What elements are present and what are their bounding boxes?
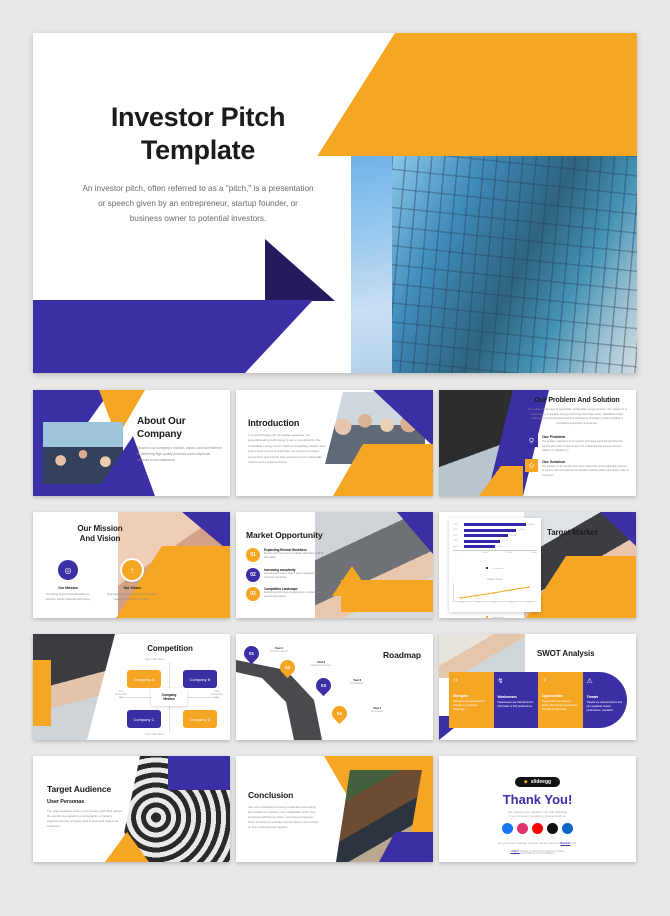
item-number: 02 <box>246 568 260 582</box>
item-text: Existing tools often lack comprehensive,… <box>264 591 324 599</box>
item-label: Our Mission <box>41 586 95 590</box>
slide-competition[interactable]: Competition High traffic share Low traff… <box>33 634 230 740</box>
hero-building-photo <box>392 156 637 373</box>
column-label: Threats <box>587 695 624 699</box>
credit-text-2: Let this slide be kept for attribution. <box>439 853 636 855</box>
matrix-box-company-b[interactable]: Company B <box>183 670 217 688</box>
hero-subtitle-line2: or speech given by an entrepreneur, star… <box>61 196 335 211</box>
hero-title: Investor Pitch Template <box>33 101 363 167</box>
milestone-number: 01 <box>249 651 254 656</box>
item-number: 01 <box>246 548 260 562</box>
youtube-icon[interactable] <box>532 823 543 834</box>
hero-navy-triangle <box>265 239 335 301</box>
threat-icon: ⚠ <box>587 677 624 685</box>
opportunity-item[interactable]: 01 Expanding Remote Workforce Remote wor… <box>246 548 324 562</box>
hero-title-line2: Template <box>33 134 363 167</box>
social-icons <box>439 823 636 834</box>
slide-conclusion[interactable]: Conclusion Join us in reshaping the ener… <box>236 756 433 862</box>
column-text: Threats are external factors that can ne… <box>587 701 624 712</box>
slide-our-problem-and-solution[interactable]: Our Problem And Solution Our problem is … <box>439 390 636 496</box>
thank-you-title: Thank You! <box>439 792 636 807</box>
solution-card[interactable]: Our Solution The solution on an investor… <box>525 459 629 479</box>
presentation-preview-page: Investor Pitch Template An investor pitc… <box>0 0 670 916</box>
slide-title: SWOT Analysis <box>537 649 595 658</box>
item-text: Providing expert financial advice to opt… <box>41 592 95 602</box>
slide-our-mission-and-vision[interactable]: Our Mission And Vision ◎ Our Mission Pro… <box>33 512 230 618</box>
swot-column-opportunities[interactable]: ♀ Opportunities Opportunities are extern… <box>538 672 583 728</box>
logo-text: slideegg <box>531 779 551 785</box>
thank-you-line2: If you have any questions, please reach … <box>439 814 636 818</box>
hero-text-block: Investor Pitch Template An investor pitc… <box>33 101 363 226</box>
slide-target-market[interactable]: 2024260,000 2023215,000 2022180,000 2021… <box>439 512 636 618</box>
slide-roadmap[interactable]: Roadmap 01 Year 1 Product Launch 02 Year… <box>236 634 433 740</box>
milestone-number: 03 <box>321 683 326 688</box>
competition-matrix: High traffic share Low traffic share Low… <box>111 658 227 736</box>
website-link[interactable]: www.slideegg.com <box>439 861 636 862</box>
milestone-label: Product Launch <box>262 650 296 653</box>
x-twitter-icon[interactable] <box>547 823 558 834</box>
slide-title: Target Audience <box>47 784 123 794</box>
slide-body: Our problem is the lack of accessible, s… <box>525 408 629 427</box>
slide-title-line1: About Our <box>137 416 223 429</box>
matrix-box-company-d[interactable]: Company D <box>183 710 217 728</box>
line-chart-legend: Market Share <box>492 617 504 618</box>
swot-column-strengths[interactable]: ‹› Strengths Strengths are internal fact… <box>449 672 494 728</box>
axis-top-label: High traffic share <box>145 658 165 661</box>
gear-idea-icon <box>525 459 538 472</box>
item-text: Empowering clients with sound financial … <box>105 592 159 602</box>
slide-target-audience[interactable]: Target Audience User Personas The target… <box>33 756 230 862</box>
slide-subtitle: User Personas <box>47 799 123 805</box>
linkedin-icon[interactable] <box>562 823 573 834</box>
lightbulb-icon <box>525 434 538 447</box>
vision-item[interactable]: ↑ Our Vision Empowering clients with sou… <box>105 560 159 602</box>
column-label: Opportunities <box>542 694 579 698</box>
column-text: Strengths are internal factors that give… <box>453 700 490 711</box>
hero-title-line1: Investor Pitch <box>33 101 363 134</box>
column-text: Opportunities are external factors that … <box>542 700 579 711</box>
hero-slide[interactable]: Investor Pitch Template An investor pitc… <box>33 33 637 373</box>
line-chart-title: Market Share <box>453 578 537 581</box>
milestone-label: Profitability <box>340 682 374 685</box>
slide-title-line2: And Vision <box>55 534 145 544</box>
weakness-icon: ↯ <box>498 677 535 685</box>
hero-subtitle-line3: business owner to potential investors. <box>61 211 335 226</box>
opportunity-icon: ♀ <box>542 677 579 684</box>
column-label: Weaknesses <box>498 695 535 699</box>
slide-title: Market Opportunity <box>246 530 323 540</box>
bar-chart: 2024260,000 2023215,000 2022180,000 2021… <box>453 523 537 574</box>
item-text: Remote work has become the digital colla… <box>264 552 324 560</box>
slideegg-logo: ◆ slideegg <box>515 777 560 787</box>
axis-left-label: Low Conversion rate <box>111 690 131 699</box>
slide-introduction[interactable]: Introduction In a world hungry for innov… <box>236 390 433 496</box>
mission-item[interactable]: ◎ Our Mission Providing expert financial… <box>41 560 95 602</box>
matrix-box-company-a[interactable]: Company A <box>127 670 161 688</box>
slide-title: Roadmap <box>383 650 421 660</box>
slide-title: Target Market <box>547 528 598 537</box>
card-label: Our Problem <box>542 434 629 439</box>
slide-market-opportunity[interactable]: Market Opportunity 01 Expanding Remote W… <box>236 512 433 618</box>
deckzz-link[interactable]: Deckzz <box>560 841 570 845</box>
card-label: Our Solution <box>542 459 629 464</box>
item-label: Our Vision <box>105 586 159 590</box>
slide-body: In a world hungry for innovative solutio… <box>248 433 326 465</box>
matrix-box-company-c[interactable]: Company C <box>127 710 161 728</box>
opportunity-item[interactable]: 03 Competitive Landscape Existing tools … <box>246 587 324 601</box>
line-chart: Market Share 20202021202220232024 Market… <box>453 578 537 618</box>
opportunity-item[interactable]: 02 Increasing complexity As businesses e… <box>246 568 324 582</box>
slide-title: Our Problem And Solution <box>525 397 629 404</box>
slide-title: About Our Company <box>137 416 223 441</box>
card-text: The problem statement on an investor pit… <box>542 440 629 453</box>
column-text: Weaknesses are internal factors that hin… <box>498 701 535 709</box>
milestone-number: 02 <box>285 665 290 670</box>
slide-swot-analysis[interactable]: SWOT Analysis ‹› Strengths Strengths are… <box>439 634 636 740</box>
slide-title: Conclusion <box>248 790 320 800</box>
bar-chart-legend: Customers <box>493 568 504 570</box>
purple-shape <box>168 756 230 790</box>
hero-subtitle-line1: An investor pitch, often referred to as … <box>61 181 335 196</box>
item-number: 03 <box>246 587 260 601</box>
column-label: Strengths <box>453 694 490 698</box>
slide-title-line2: Company <box>137 429 223 442</box>
swot-column-weaknesses[interactable]: ↯ Weaknesses Weaknesses are internal fac… <box>494 672 539 728</box>
facebook-icon[interactable] <box>502 823 513 834</box>
slide-body: Join us in reshaping the energy landscap… <box>248 805 320 829</box>
milestone-number: 04 <box>337 711 342 716</box>
axis-right-label: High Conversion rate <box>207 690 227 699</box>
card-text: The solution on an investor pitch deck o… <box>542 465 629 478</box>
design-request-text: Do you have a design request, please vis… <box>439 841 636 845</box>
slide-body: The target audience section in an invest… <box>47 809 123 829</box>
problem-card[interactable]: Our Problem The problem statement on an … <box>525 434 629 454</box>
target-icon: ◎ <box>58 560 78 580</box>
slide-title: Introduction <box>248 418 326 428</box>
matrix-center-label: Company Metrics <box>151 688 187 706</box>
rocket-icon: ↑ <box>122 560 142 580</box>
charts-card: 2024260,000 2023215,000 2022180,000 2021… <box>449 518 541 612</box>
hero-purple-shape <box>33 300 383 373</box>
milestone-label: Market Expansion <box>302 664 340 667</box>
orange-bar <box>33 660 51 726</box>
item-text: As businesses evolve, efficient project … <box>264 572 324 580</box>
slide-thank-you[interactable]: ◆ slideegg Thank You! We respect your va… <box>439 756 636 862</box>
swot-column-threats[interactable]: ⚠ Threats Threats are external factors t… <box>583 672 628 728</box>
orange-bar <box>341 580 433 612</box>
hero-subtitle: An investor pitch, often referred to as … <box>33 181 363 227</box>
instagram-icon[interactable] <box>517 823 528 834</box>
swot-columns: ‹› Strengths Strengths are internal fact… <box>449 672 627 728</box>
slide-title: Competition <box>117 644 223 653</box>
slide-title-line1: Our Mission <box>55 524 145 534</box>
axis-bottom-label: Low traffic share <box>145 733 164 736</box>
slide-thumbnail-grid: About Our Company Discover our company's… <box>33 390 637 862</box>
strength-icon: ‹› <box>453 677 490 684</box>
slide-about-our-company[interactable]: About Our Company Discover our company's… <box>33 390 230 496</box>
slide-title: Our Mission And Vision <box>55 524 145 545</box>
slide-body: Discover our company's mission, values, … <box>137 446 223 463</box>
milestone-label: Innovation <box>360 710 394 713</box>
credit-label: CREDIT: <box>511 851 520 853</box>
